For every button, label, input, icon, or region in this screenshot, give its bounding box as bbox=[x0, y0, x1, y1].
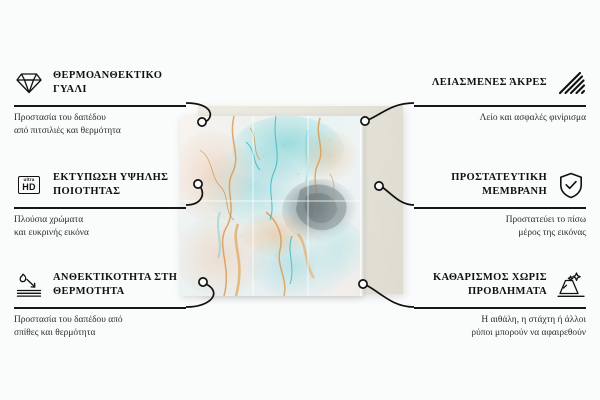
feature-easy-cleaning: ΚΑΘΑΡΙΣΜΟΣ ΧΩΡΙΣ ΠΡΟΒΛΗΜΑΤΑ Η αιθάλη, η … bbox=[414, 268, 586, 341]
sparkle-clean-icon bbox=[556, 271, 586, 299]
feature-subtitle-line-2: μέρος της εικόνας bbox=[414, 227, 586, 241]
printed-glass-panel bbox=[180, 116, 362, 296]
feature-subtitle-line-1: Λείο και ασφαλές φινίρισμα bbox=[414, 112, 586, 126]
feature-protective-membrane: ΠΡΟΣΤΑΤΕΥΤΙΚΗ ΜΕΜΒΡΑΝΗ Προστατεύει το πί… bbox=[414, 168, 586, 241]
feature-heat-durability: ΑΝΘΕΚΤΙΚΟΤΗΤΑ ΣΤΗ ΘΕΡΜΟΤΗΤΑ Προστασία το… bbox=[14, 268, 186, 341]
feature-subtitle-line-2: ρύποι μπορούν να αφαιρεθούν bbox=[414, 327, 586, 341]
feature-subtitle-line-1: Προστασία του δαπέδου από bbox=[14, 314, 186, 328]
feature-header: ΠΡΟΣΤΑΤΕΥΤΙΚΗ ΜΕΜΒΡΑΝΗ bbox=[414, 168, 586, 202]
feature-header: ultra HD ΕΚΤΥΠΩΣΗ ΥΨΗΛΗΣ ΠΟΙΟΤΗΤΑΣ bbox=[14, 168, 186, 202]
feature-divider bbox=[14, 307, 186, 309]
feature-subtitle-line-1: Η αιθάλη, η στάχτη ή άλλοι bbox=[414, 314, 586, 328]
feature-header: ΚΑΘΑΡΙΣΜΟΣ ΧΩΡΙΣ ΠΡΟΒΛΗΜΑΤΑ bbox=[414, 268, 586, 302]
infographic-stage: ΘΕΡΜΟΑΝΘΕΚΤΙΚΟ ΓΥΑΛΙ Προστασία του δαπέδ… bbox=[0, 0, 600, 400]
shield-check-icon bbox=[556, 171, 586, 199]
feature-title: ΛΕΙΑΣΜΕΝΕΣ ΆΚΡΕΣ bbox=[432, 76, 547, 90]
feature-subtitle-line-2: από πιτσιλιές και θερμότητα bbox=[14, 125, 186, 139]
hd-label: HD bbox=[22, 183, 36, 192]
feature-header: ΛΕΙΑΣΜΕΝΕΣ ΆΚΡΕΣ bbox=[414, 66, 586, 100]
feature-heat-resistant-glass: ΘΕΡΜΟΑΝΘΕΚΤΙΚΟ ΓΥΑΛΙ Προστασία του δαπέδ… bbox=[14, 66, 186, 139]
flame-heat-resistance-icon bbox=[14, 271, 44, 299]
feature-divider bbox=[14, 105, 186, 107]
polished-edge-highlight bbox=[360, 116, 365, 296]
ultra-hd-badge-icon: ultra HD bbox=[14, 171, 44, 199]
feature-subtitle-line-1: Προστατεύει το πίσω bbox=[414, 214, 586, 228]
feature-subtitle-line-1: Προστασία του δαπέδου bbox=[14, 112, 186, 126]
feature-subtitle-line-2: και ευκρινής εικόνα bbox=[14, 227, 186, 241]
feature-subtitle-line-2: σπίθες και θερμότητα bbox=[14, 327, 186, 341]
marble-artwork bbox=[180, 116, 362, 296]
feature-divider bbox=[14, 207, 186, 209]
feature-divider bbox=[414, 105, 586, 107]
feature-high-quality-print: ultra HD ΕΚΤΥΠΩΣΗ ΥΨΗΛΗΣ ΠΟΙΟΤΗΤΑΣ Πλούσ… bbox=[14, 168, 186, 241]
feature-divider bbox=[414, 307, 586, 309]
feature-polished-edges: ΛΕΙΑΣΜΕΝΕΣ ΆΚΡΕΣ Λείο και ασφαλές φινίρι… bbox=[414, 66, 586, 125]
product-panel bbox=[180, 110, 405, 295]
feature-title: ΑΝΘΕΚΤΙΚΟΤΗΤΑ ΣΤΗ ΘΕΡΜΟΤΗΤΑ bbox=[53, 271, 186, 299]
diamond-icon bbox=[14, 69, 44, 97]
polished-edges-icon bbox=[556, 69, 586, 97]
feature-header: ΑΝΘΕΚΤΙΚΟΤΗΤΑ ΣΤΗ ΘΕΡΜΟΤΗΤΑ bbox=[14, 268, 186, 302]
feature-title: ΕΚΤΥΠΩΣΗ ΥΨΗΛΗΣ ΠΟΙΟΤΗΤΑΣ bbox=[53, 171, 186, 199]
feature-subtitle-line-1: Πλούσια χρώματα bbox=[14, 214, 186, 228]
feature-title: ΚΑΘΑΡΙΣΜΟΣ ΧΩΡΙΣ ΠΡΟΒΛΗΜΑΤΑ bbox=[414, 271, 547, 299]
feature-divider bbox=[414, 207, 586, 209]
feature-title: ΠΡΟΣΤΑΤΕΥΤΙΚΗ ΜΕΜΒΡΑΝΗ bbox=[414, 171, 547, 199]
feature-header: ΘΕΡΜΟΑΝΘΕΚΤΙΚΟ ΓΥΑΛΙ bbox=[14, 66, 186, 100]
feature-title: ΘΕΡΜΟΑΝΘΕΚΤΙΚΟ ΓΥΑΛΙ bbox=[53, 69, 186, 97]
